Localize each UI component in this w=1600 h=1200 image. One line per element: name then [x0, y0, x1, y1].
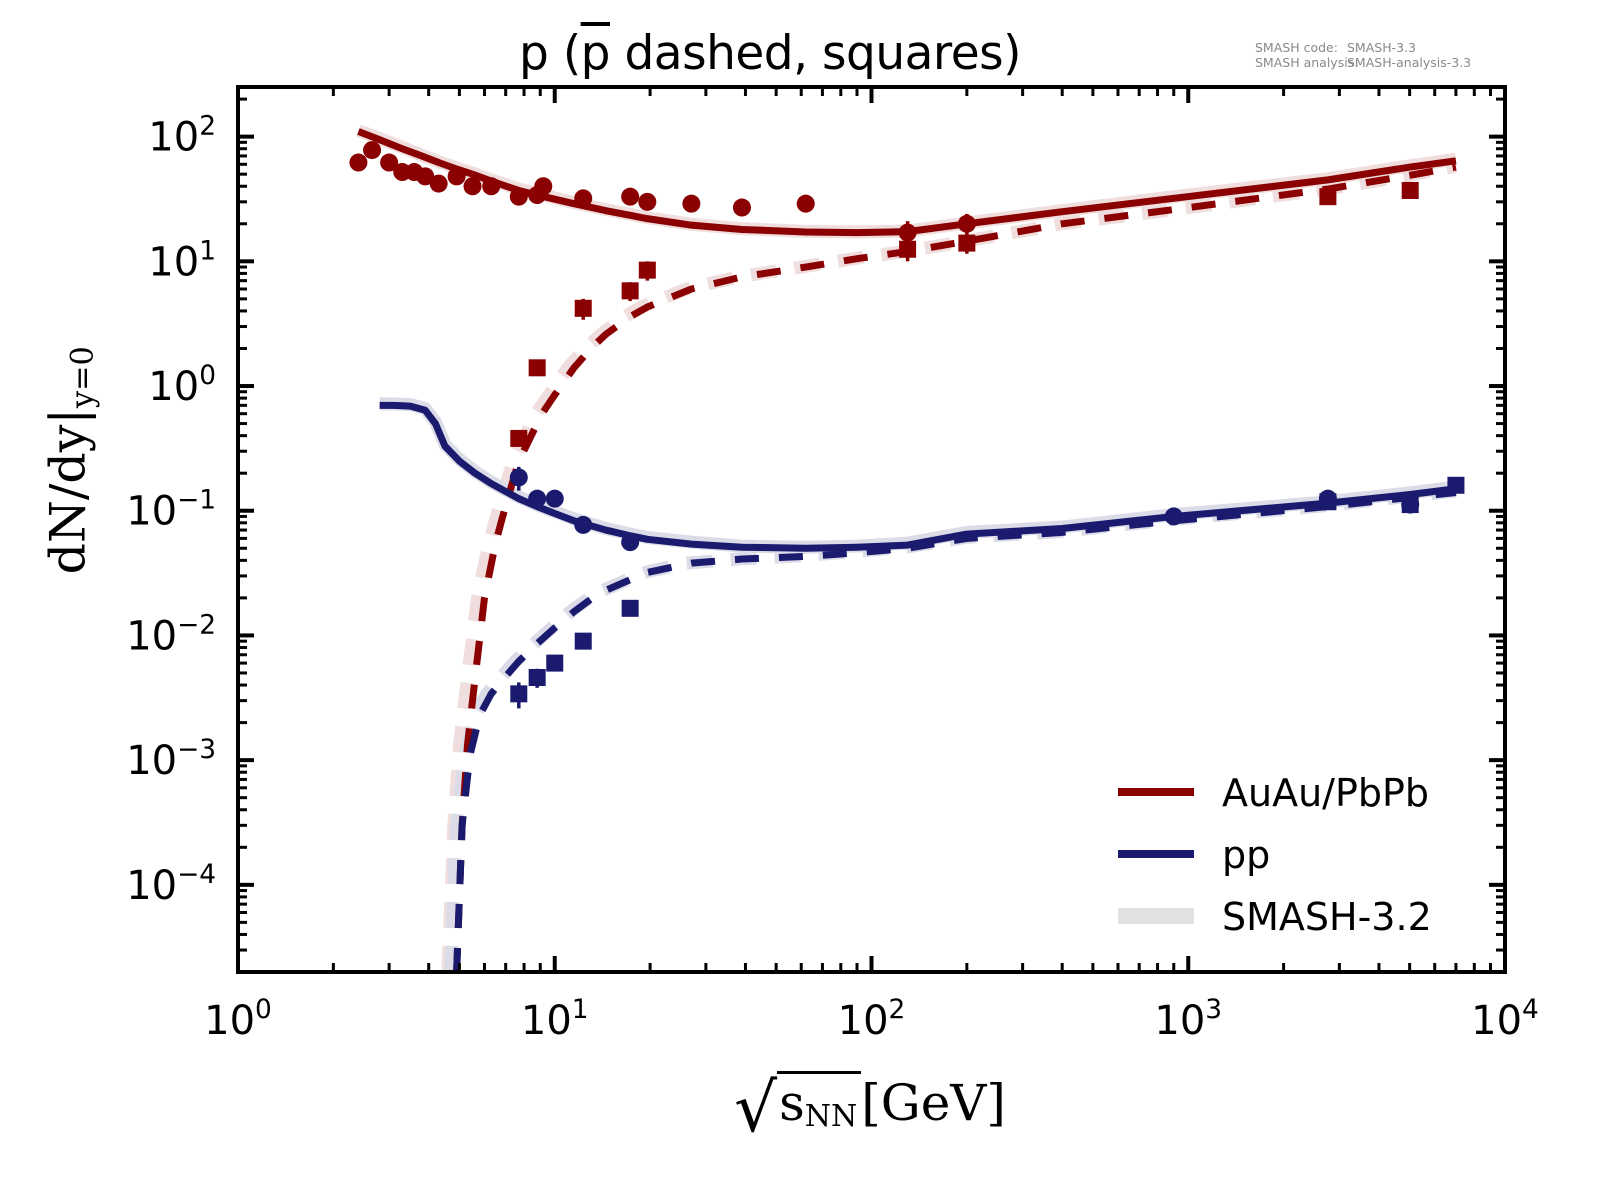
data-point-circle	[574, 189, 592, 207]
data-point-circle	[546, 490, 564, 508]
data-point-circle	[349, 154, 367, 172]
y-tick-label: 101	[148, 235, 216, 285]
plot-canvas: 10010110210310410210110010−110−210−310−4…	[0, 0, 1600, 1200]
data-point-square	[958, 235, 975, 252]
legend-label-2: SMASH-3.2	[1222, 895, 1432, 939]
y-tick-label: 100	[148, 360, 216, 410]
y-tick-label: 10−1	[126, 485, 216, 535]
y-tick-label: 10−4	[126, 859, 216, 909]
data-point-circle	[574, 516, 592, 534]
data-point-circle	[534, 177, 552, 195]
series-line	[380, 404, 1456, 547]
legend: AuAu/PbPbppSMASH-3.2	[1118, 771, 1432, 939]
data-point-square	[899, 241, 916, 258]
data-point-circle	[621, 533, 639, 551]
legend-label-0: AuAu/PbPb	[1222, 771, 1429, 815]
x-tick-label: 104	[1471, 994, 1539, 1044]
data-point-square	[639, 262, 656, 279]
data-layer	[349, 130, 1464, 972]
data-point-circle	[363, 141, 381, 159]
x-tick-label: 100	[204, 994, 272, 1044]
data-point-circle	[464, 177, 482, 195]
data-point-circle	[621, 188, 639, 206]
data-point-square	[529, 359, 546, 376]
data-point-circle	[510, 188, 528, 206]
data-point-square	[546, 655, 563, 672]
data-point-square	[575, 633, 592, 650]
data-point-square	[1402, 496, 1419, 513]
data-point-circle	[899, 224, 917, 242]
data-point-circle	[1165, 507, 1183, 525]
data-point-circle	[733, 199, 751, 217]
data-point-circle	[482, 177, 500, 195]
x-tick-label: 101	[521, 994, 589, 1044]
data-point-circle	[528, 490, 546, 508]
series-line	[380, 405, 1456, 548]
data-point-circle	[797, 195, 815, 213]
data-point-circle	[958, 215, 976, 233]
data-point-circle	[448, 167, 466, 185]
data-point-square	[622, 282, 639, 299]
data-point-circle	[682, 195, 700, 213]
data-point-square	[529, 669, 546, 686]
figure-root: p (p dashed, squares) SMASH code:SMASH-3…	[0, 0, 1600, 1200]
x-tick-label: 102	[838, 994, 906, 1044]
plot-frame	[238, 87, 1505, 972]
y-tick-label: 10−2	[126, 609, 216, 659]
data-point-square	[1402, 182, 1419, 199]
series-line	[448, 166, 1456, 972]
data-point-circle	[430, 175, 448, 193]
x-tick-label: 103	[1154, 994, 1222, 1044]
y-tick-label: 102	[148, 111, 216, 161]
data-point-square	[622, 600, 639, 617]
data-point-circle	[510, 468, 528, 486]
series-line	[457, 167, 1456, 972]
series-line	[358, 131, 1456, 232]
data-point-circle	[638, 193, 656, 211]
data-point-square	[1319, 493, 1336, 510]
data-point-square	[510, 685, 527, 702]
y-tick-label: 10−3	[126, 734, 216, 784]
data-point-square	[575, 300, 592, 317]
data-point-square	[510, 430, 527, 447]
data-point-square	[1319, 188, 1336, 205]
legend-label-1: pp	[1222, 833, 1270, 877]
data-point-square	[1447, 477, 1464, 494]
